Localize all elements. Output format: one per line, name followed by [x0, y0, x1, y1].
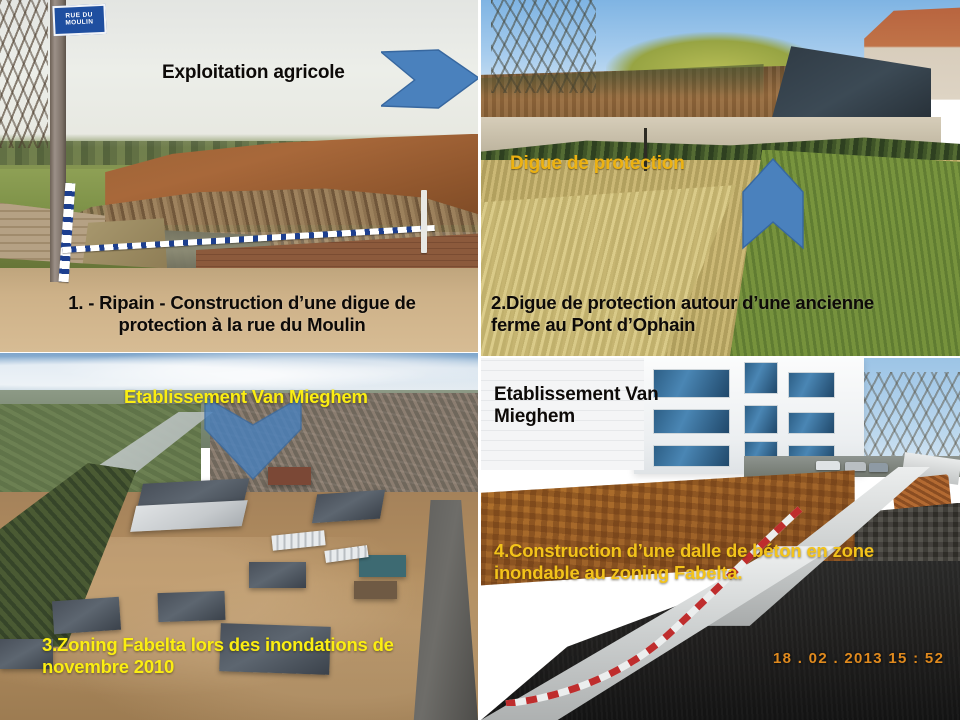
industrial-building-roof	[157, 590, 225, 622]
window-pane	[653, 445, 730, 467]
parked-car	[816, 461, 840, 470]
window-pane	[788, 372, 836, 397]
chevron-down-arrow	[203, 395, 303, 481]
overlay-label-etablissement-van-mieghem: Etablissement Van Mieghem	[124, 386, 368, 408]
panel-caption-1: 1. - Ripain - Construction d’une digue d…	[22, 292, 462, 336]
camera-timestamp: 18 . 02 . 2013 15 : 52	[773, 650, 944, 667]
parked-car	[845, 462, 866, 471]
industrial-building-roof	[359, 555, 407, 577]
chevron-right-arrow	[381, 48, 478, 110]
window-pane	[788, 412, 836, 434]
overlay-label-exploitation-agricole: Exploitation agricole	[162, 62, 345, 84]
window-pane	[653, 369, 730, 398]
photo-panel-digue-pont-dophain[interactable]: Digue de protection 2.Digue de protectio…	[481, 0, 960, 356]
photo-panel-ripain-rue-du-moulin[interactable]: RUE DU MOULIN Exploitation agricole 1. -…	[0, 0, 478, 352]
industrial-building-roof	[312, 490, 385, 524]
panel-caption-2: 2.Digue de protection autour d’une ancie…	[491, 292, 957, 336]
clouds-region	[0, 353, 478, 390]
window-pane	[744, 362, 778, 395]
panel-caption-4: 4.Construction d’une dalle de béton en z…	[494, 540, 950, 584]
panel-caption-3: 3.Zoning Fabelta lors des inondations de…	[42, 634, 472, 678]
industrial-building-roof	[52, 597, 121, 635]
street-sign-rue-du-moulin: RUE DU MOULIN	[52, 4, 106, 36]
bare-tree-region	[0, 0, 48, 148]
parked-car	[869, 463, 888, 472]
window-pane	[653, 409, 730, 434]
slide-canvas: RUE DU MOULIN Exploitation agricole 1. -…	[0, 0, 960, 720]
window-pane	[744, 405, 778, 434]
bare-tree-region	[491, 0, 596, 93]
industrial-building-roof	[354, 581, 397, 599]
photo-panel-dalle-beton-zoning-fabelta[interactable]: Etablissement Van Mieghem 4.Construction…	[481, 358, 960, 720]
overlay-label-digue-de-protection: Digue de protection	[510, 153, 685, 175]
photo-panel-zoning-fabelta-inondations[interactable]: Etablissement Van Mieghem 3.Zoning Fabel…	[0, 353, 478, 720]
white-marker-post	[421, 190, 427, 253]
overlay-label-etablissement-van-mieghem: Etablissement Van Mieghem	[494, 384, 659, 429]
industrial-building-roof	[249, 562, 306, 588]
chevron-up-arrow	[742, 158, 804, 250]
